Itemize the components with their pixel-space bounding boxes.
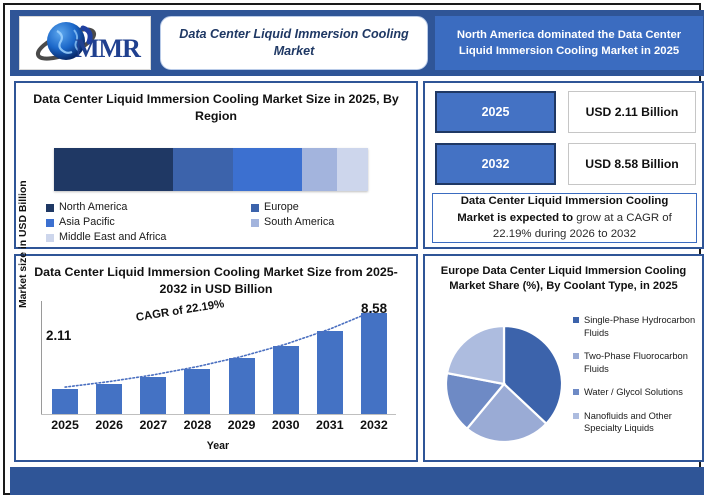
bar-slot (308, 302, 352, 414)
bar (96, 384, 122, 414)
year-label: 2025 (482, 105, 510, 119)
year-label: 2032 (482, 157, 510, 171)
cagr-statement-box: Data Center Liquid Immersion Cooling Mar… (432, 193, 697, 243)
legend-swatch (251, 204, 259, 212)
year-badge-2025: 2025 (435, 91, 556, 133)
stack-segment (233, 148, 302, 191)
column-chart: Market size in USD Billion CAGR of 22.19… (16, 256, 420, 464)
x-tick-label: 2025 (43, 418, 87, 432)
pie-svg (445, 318, 563, 450)
x-tick-label: 2031 (308, 418, 352, 432)
header-highlight-text: North America dominated the Data Center … (441, 27, 697, 60)
report-title-box: Data Center Liquid Immersion Cooling Mar… (160, 16, 428, 70)
pie-legend-item-water-glycol: Water / Glycol Solutions (573, 386, 699, 399)
bar (140, 377, 166, 414)
legend-label: Middle East and Africa (59, 231, 166, 243)
stack-segment (302, 148, 337, 191)
x-tick-label: 2029 (220, 418, 264, 432)
legend-swatch (46, 234, 54, 242)
legend-label: North America (59, 201, 127, 213)
legend-label: Europe (264, 201, 299, 213)
legend-swatch (46, 219, 54, 227)
column-bars (43, 302, 396, 414)
pie-slice (447, 326, 504, 384)
bar-slot (352, 302, 396, 414)
bar-slot (87, 302, 131, 414)
region-legend: North America Europe Asia Pacific South … (46, 201, 396, 246)
x-tick-label: 2030 (264, 418, 308, 432)
market-size-kpi-panel: 2025 USD 2.11 Billion 2032 USD 8.58 Bill… (423, 81, 704, 249)
kpi-row-2032: 2032 USD 8.58 Billion (432, 143, 696, 185)
legend-item-north-america: North America (46, 201, 251, 213)
legend-label: Water / Glycol Solutions (584, 386, 683, 399)
coolant-share-panel: Europe Data Center Liquid Immersion Cool… (423, 254, 704, 462)
x-axis-title: Year (16, 440, 420, 452)
year-badge-2032: 2032 (435, 143, 556, 185)
legend-item-asia-pacific: Asia Pacific (46, 216, 251, 228)
x-axis-line (41, 414, 396, 415)
legend-item-south-america: South America (251, 216, 334, 228)
bar (273, 346, 299, 414)
bar (184, 369, 210, 414)
pie-chart-title: Europe Data Center Liquid Immersion Cool… (425, 256, 702, 294)
pie-chart (445, 318, 563, 450)
bar-slot (264, 302, 308, 414)
stacked-bar-track (54, 148, 368, 191)
y-axis-line (41, 301, 42, 414)
infographic-page: MMR Data Center Liquid Immersion Cooling… (0, 0, 704, 502)
legend-label: South America (264, 216, 334, 228)
x-tick-label: 2032 (352, 418, 396, 432)
legend-label: Asia Pacific (59, 216, 115, 228)
bar (229, 358, 255, 414)
bar-slot (220, 302, 264, 414)
region-share-panel: Data Center Liquid Immersion Cooling Mar… (14, 81, 418, 249)
region-stacked-bar (54, 148, 368, 191)
bar-slot (175, 302, 219, 414)
bar-slot (43, 302, 87, 414)
legend-label: Nanofluids and Other Specialty Liquids (584, 410, 699, 435)
legend-label: Single-Phase Hydrocarbon Fluids (584, 314, 699, 339)
value-label: USD 8.58 Billion (585, 157, 678, 171)
pie-legend-item-two-phase: Two-Phase Fluorocarbon Fluids (573, 350, 699, 375)
outer-frame: MMR Data Center Liquid Immersion Cooling… (3, 3, 701, 495)
value-label: USD 2.11 Billion (586, 105, 679, 119)
stack-segment (173, 148, 233, 191)
mmr-logo: MMR (19, 16, 151, 70)
region-legend-row: Asia Pacific South America (46, 216, 396, 228)
logo-wordmark: MMR (75, 34, 140, 64)
region-legend-row: Middle East and Africa (46, 231, 396, 243)
last-value-label: 8.58 (361, 301, 387, 316)
x-axis-ticks: 20252026202720282029203020312032 (43, 418, 396, 436)
bar (361, 313, 387, 414)
pie-legend-item-single-phase: Single-Phase Hydrocarbon Fluids (573, 314, 699, 339)
y-axis-title: Market size in USD Billion (18, 188, 29, 308)
footer-bar (10, 467, 704, 495)
legend-swatch (573, 413, 579, 419)
stack-segment (337, 148, 368, 191)
bar (52, 389, 78, 414)
legend-item-middle-east-africa: Middle East and Africa (46, 231, 251, 243)
legend-swatch (573, 389, 579, 395)
legend-swatch (251, 219, 259, 227)
legend-swatch (46, 204, 54, 212)
x-tick-label: 2027 (131, 418, 175, 432)
value-box-2025: USD 2.11 Billion (568, 91, 696, 133)
first-value-label: 2.11 (46, 328, 71, 343)
bar (317, 331, 343, 414)
legend-item-europe: Europe (251, 201, 299, 213)
value-box-2032: USD 8.58 Billion (568, 143, 696, 185)
header-bar: MMR Data Center Liquid Immersion Cooling… (10, 10, 704, 76)
header-highlight-box: North America dominated the Data Center … (435, 16, 703, 70)
region-legend-row: North America Europe (46, 201, 396, 213)
report-title: Data Center Liquid Immersion Cooling Mar… (169, 26, 419, 60)
legend-label: Two-Phase Fluorocarbon Fluids (584, 350, 699, 375)
pie-legend: Single-Phase Hydrocarbon Fluids Two-Phas… (573, 314, 699, 446)
x-tick-label: 2028 (175, 418, 219, 432)
pie-legend-item-nanofluids: Nanofluids and Other Specialty Liquids (573, 410, 699, 435)
legend-swatch (573, 353, 579, 359)
region-panel-title: Data Center Liquid Immersion Cooling Mar… (16, 83, 416, 124)
stack-segment (54, 148, 173, 191)
market-size-trend-panel: Data Center Liquid Immersion Cooling Mar… (14, 254, 418, 462)
x-tick-label: 2026 (87, 418, 131, 432)
legend-swatch (573, 317, 579, 323)
kpi-row-2025: 2025 USD 2.11 Billion (432, 91, 696, 133)
